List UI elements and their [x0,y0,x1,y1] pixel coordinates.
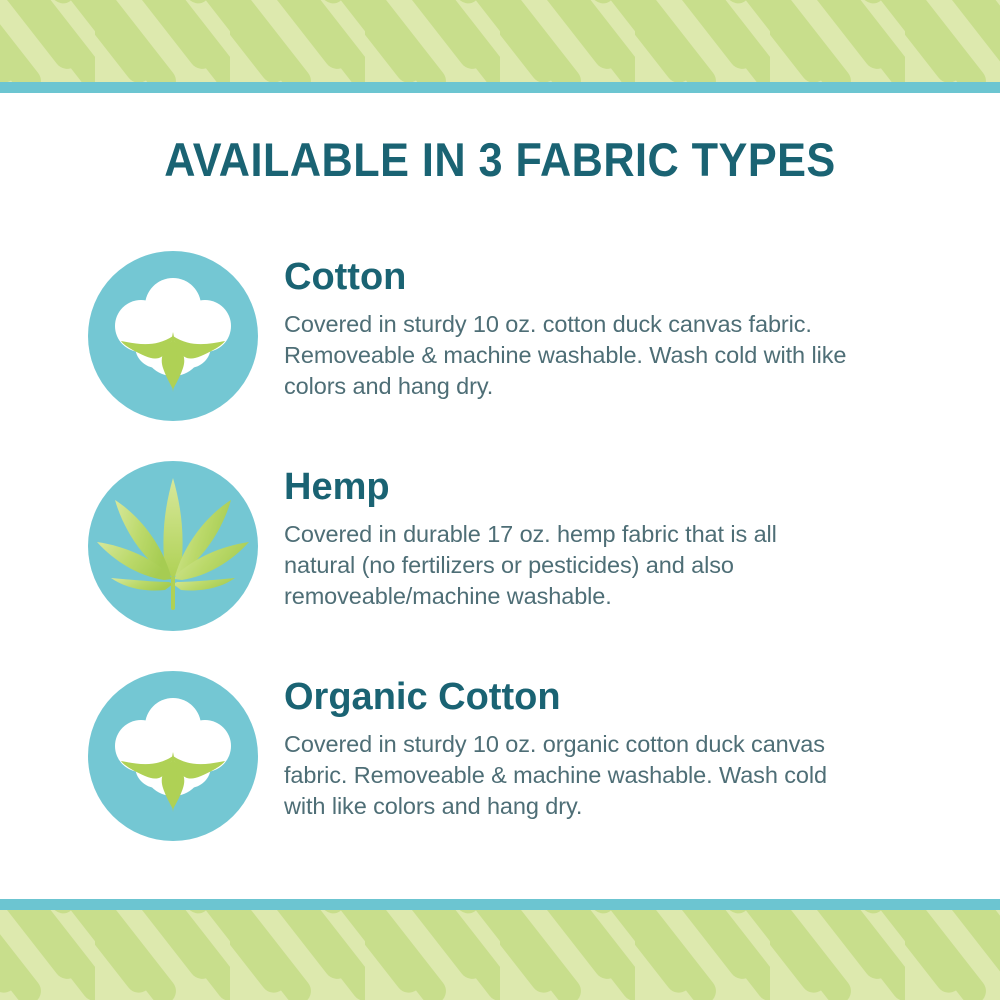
list-item: Cotton Covered in sturdy 10 oz. cotton d… [0,248,1000,424]
fabric-description: Covered in sturdy 10 oz. organic cotton … [284,729,829,822]
fabric-description: Covered in durable 17 oz. hemp fabric th… [284,519,844,612]
top-decorative-band [0,0,1000,82]
fabric-heading: Cotton [284,258,1000,298]
cotton-boll-icon [85,248,261,424]
cotton-boll-icon [85,668,261,844]
fabric-text-block: Cotton Covered in sturdy 10 oz. cotton d… [261,248,1000,402]
fabric-description: Covered in sturdy 10 oz. cotton duck can… [284,309,849,402]
hemp-leaf-icon [85,458,261,634]
fabric-text-block: Hemp Covered in durable 17 oz. hemp fabr… [261,458,1000,612]
bottom-decorative-band [0,910,1000,1000]
list-item: Hemp Covered in durable 17 oz. hemp fabr… [0,458,1000,634]
fabric-heading: Organic Cotton [284,678,1000,718]
page-title: AVAILABLE IN 3 FABRIC TYPES [40,132,960,187]
top-teal-rule [0,82,1000,93]
fabric-text-block: Organic Cotton Covered in sturdy 10 oz. … [261,668,1000,822]
fabric-list: Cotton Covered in sturdy 10 oz. cotton d… [0,248,1000,878]
infographic-page: AVAILABLE IN 3 FABRIC TYPES [0,0,1000,1000]
bottom-teal-rule [0,899,1000,910]
diagonal-stripe-pattern [0,910,1000,1000]
list-item: Organic Cotton Covered in sturdy 10 oz. … [0,668,1000,844]
fabric-heading: Hemp [284,468,1000,508]
diagonal-stripe-pattern [0,0,1000,82]
